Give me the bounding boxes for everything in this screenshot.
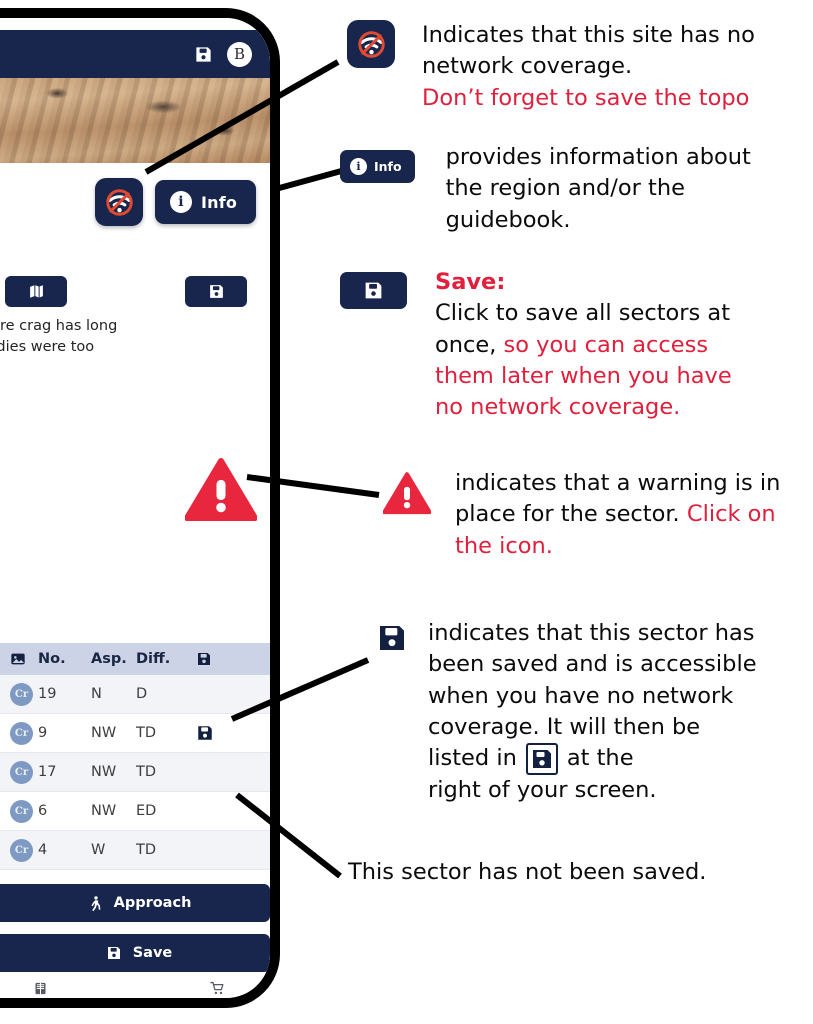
cell-no: 19 bbox=[38, 686, 91, 702]
warning-triangle-icon bbox=[185, 458, 257, 522]
info-chip: i Info bbox=[340, 150, 415, 183]
floppy-disk-icon bbox=[106, 945, 122, 961]
cell-diff: ED bbox=[136, 803, 196, 819]
annotation-save: Save: Click to save all sectors at once,… bbox=[340, 272, 813, 423]
info-chip-label: Info bbox=[374, 159, 402, 174]
table-header-row: No. Asp. Diff. bbox=[0, 643, 270, 675]
not-saved-text: This sector has not been saved. bbox=[348, 857, 706, 888]
cell-asp: NW bbox=[91, 725, 136, 741]
bottom-navigation: Guidebooks Basket bbox=[0, 973, 270, 998]
header-no: No. bbox=[38, 651, 91, 667]
save-line-3: them later when you have bbox=[435, 361, 732, 392]
no-network-wifi-icon bbox=[103, 186, 136, 219]
warning-line-1: indicates that a warning is in bbox=[455, 468, 780, 499]
cell-no: 6 bbox=[38, 803, 91, 819]
warning-triangle-icon bbox=[383, 472, 431, 515]
saved-line-5-b: at the bbox=[567, 743, 634, 774]
map-button[interactable] bbox=[5, 276, 67, 307]
map-icon bbox=[28, 283, 45, 300]
cell-asp: N bbox=[91, 686, 136, 702]
warning-line-2: place for the sector. Click on bbox=[455, 499, 780, 530]
cell-diff: TD bbox=[136, 725, 196, 741]
header-diff: Diff. bbox=[136, 651, 196, 667]
save-line-2-red: so you can access bbox=[504, 332, 709, 358]
photo-icon bbox=[10, 651, 26, 667]
cell-diff: TD bbox=[136, 764, 196, 780]
info-line-1: provides information about bbox=[446, 142, 751, 173]
save-line-4: no network coverage. bbox=[435, 392, 732, 423]
floppy-disk-icon bbox=[208, 283, 225, 300]
saved-line-2: been saved and is accessible bbox=[428, 649, 757, 680]
header-photo-icon-cell bbox=[0, 651, 38, 667]
table-row[interactable]: Cr 4 W TD bbox=[0, 831, 270, 870]
saved-line-1: indicates that this sector has bbox=[428, 618, 757, 649]
phone-mockup-frame: B i Info bbox=[0, 8, 280, 1008]
warning-line-2-black: place for the sector. bbox=[455, 501, 687, 527]
saved-line-4: coverage. It will then be bbox=[428, 712, 757, 743]
saved-sector-chip bbox=[376, 622, 408, 658]
app-header-bar: B bbox=[0, 30, 270, 78]
cell-saved[interactable] bbox=[196, 724, 236, 742]
header-save-icon-cell bbox=[196, 651, 236, 667]
cell-asp: W bbox=[91, 842, 136, 858]
annotation-saved-sector: indicates that this sector has been save… bbox=[376, 618, 813, 806]
header-asp: Asp. bbox=[91, 651, 136, 667]
desc-line-2: ntial but the oldies were too bbox=[0, 337, 270, 358]
info-line-3: guidebook. bbox=[446, 205, 751, 236]
save-line-2: once, so you can access bbox=[435, 330, 732, 361]
nav-item-guidebooks[interactable]: Guidebooks bbox=[10, 981, 72, 998]
table-row[interactable]: Cr 19 N D bbox=[0, 675, 270, 714]
save-mini-button[interactable] bbox=[185, 276, 247, 307]
info-button[interactable]: i Info bbox=[155, 180, 256, 224]
info-circle-icon: i bbox=[170, 191, 192, 213]
phone-screen: B i Info bbox=[0, 18, 270, 998]
floppy-disk-icon bbox=[376, 622, 408, 654]
save-line-2-black: once, bbox=[435, 332, 504, 358]
crag-description: rs ago, the Suare crag has long ntial bu… bbox=[0, 316, 270, 359]
annotation-not-saved: This sector has not been saved. bbox=[348, 857, 813, 888]
save-label: Save bbox=[133, 945, 173, 961]
table-row[interactable]: Cr 6 NW ED bbox=[0, 792, 270, 831]
table-row[interactable]: Cr 9 NW TD bbox=[0, 714, 270, 753]
floppy-disk-icon bbox=[196, 724, 214, 742]
cell-no: 4 bbox=[38, 842, 91, 858]
saved-list-floppy-icon bbox=[526, 743, 558, 775]
saved-line-3: when you have no network bbox=[428, 681, 757, 712]
shopping-cart-icon bbox=[210, 981, 225, 996]
approach-button[interactable]: Approach bbox=[0, 884, 270, 922]
sector-warning-icon[interactable] bbox=[185, 458, 257, 526]
walking-person-icon bbox=[87, 895, 103, 912]
no-network-line-1: Indicates that this site has no bbox=[422, 20, 755, 51]
annotation-info: i Info provides information about the re… bbox=[340, 150, 813, 236]
crag-hero-photo bbox=[0, 78, 270, 163]
sector-table: No. Asp. Diff. Cr 19 N D Cr 9 NW TD bbox=[0, 643, 270, 870]
saved-line-6: right of your screen. bbox=[428, 775, 757, 806]
approach-label: Approach bbox=[114, 895, 192, 911]
crag-badge: Cr bbox=[10, 722, 33, 745]
book-icon bbox=[33, 981, 48, 996]
floppy-disk-icon bbox=[196, 651, 212, 667]
no-network-chip bbox=[347, 20, 395, 68]
cell-diff: D bbox=[136, 686, 196, 702]
cell-asp: NW bbox=[91, 764, 136, 780]
warning-line-2-red: Click on bbox=[687, 501, 776, 527]
no-network-line-3: Don’t forget to save the topo bbox=[422, 83, 755, 114]
annotation-warning: indicates that a warning is in place for… bbox=[383, 468, 813, 562]
info-button-label: Info bbox=[201, 193, 237, 212]
phone-mini-button-row bbox=[0, 276, 270, 307]
save-title: Save: bbox=[435, 267, 732, 298]
phone-toolbar-row: i Info bbox=[0, 178, 270, 226]
cell-asp: NW bbox=[91, 803, 136, 819]
table-row[interactable]: Cr 17 NW TD bbox=[0, 753, 270, 792]
warning-chip bbox=[383, 472, 431, 519]
no-network-line-2: network coverage. bbox=[422, 51, 755, 82]
save-line-1: Click to save all sectors at bbox=[435, 298, 732, 329]
crag-badge: Cr bbox=[10, 761, 33, 784]
saved-line-5-a: listed in bbox=[428, 743, 517, 774]
warning-line-3: the icon. bbox=[455, 531, 780, 562]
cell-no: 17 bbox=[38, 764, 91, 780]
desc-line-1: rs ago, the Suare crag has long bbox=[0, 316, 270, 337]
floppy-disk-icon bbox=[363, 280, 384, 301]
crag-badge: Cr bbox=[10, 683, 33, 706]
crag-badge: Cr bbox=[10, 800, 33, 823]
cell-no: 9 bbox=[38, 725, 91, 741]
no-network-wifi-icon bbox=[355, 28, 388, 61]
nav-item-basket[interactable]: Basket bbox=[200, 981, 235, 998]
save-chip bbox=[340, 272, 407, 309]
info-circle-icon: i bbox=[350, 158, 367, 175]
floppy-disk-icon[interactable] bbox=[194, 45, 213, 64]
avatar[interactable]: B bbox=[227, 42, 252, 67]
cell-diff: TD bbox=[136, 842, 196, 858]
annotation-no-network: Indicates that this site has no network … bbox=[347, 20, 813, 114]
save-all-button[interactable]: Save bbox=[0, 934, 270, 972]
no-network-button[interactable] bbox=[95, 178, 143, 226]
saved-line-5: listed in at the bbox=[428, 743, 757, 775]
info-line-2: the region and/or the bbox=[446, 173, 751, 204]
crag-badge: Cr bbox=[10, 839, 33, 862]
